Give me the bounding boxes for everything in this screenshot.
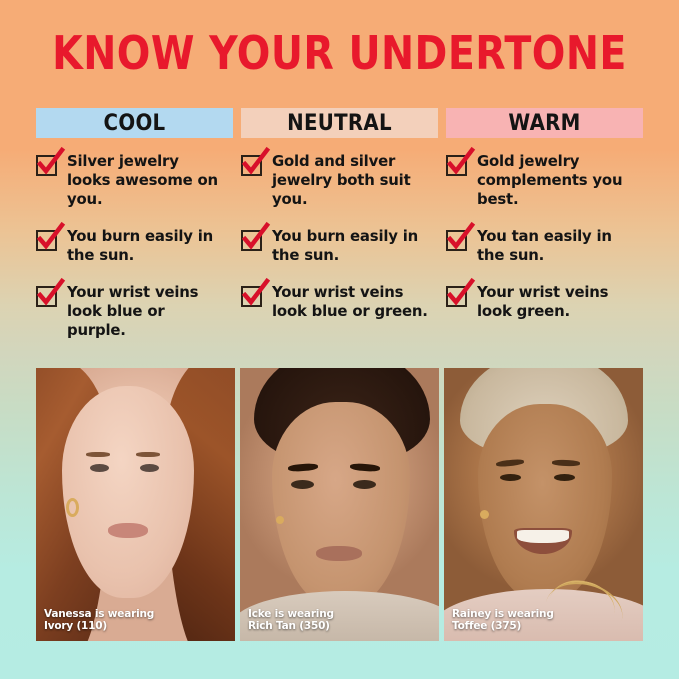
column-neutral: NEUTRAL Gold and silver jewelry both sui… — [241, 108, 438, 358]
eye-left — [90, 464, 109, 472]
face — [478, 404, 612, 602]
checkbox-checked-icon[interactable] — [241, 230, 262, 251]
checkbox-checked-icon[interactable] — [241, 286, 262, 307]
column-cool: COOL Silver jewelry looks awesome on you… — [36, 108, 233, 358]
checkbox-checked-icon[interactable] — [446, 230, 467, 251]
checklist-neutral: Gold and silver jewelry both suit you. Y… — [241, 152, 438, 321]
column-header-cool-bar: COOL — [36, 108, 233, 138]
eye-left — [291, 480, 314, 489]
column-header-warm-bar: WARM — [446, 108, 643, 138]
checkbox-checked-icon[interactable] — [36, 155, 57, 176]
checklist-item[interactable]: You burn easily in the sun. — [36, 227, 233, 265]
checklist-item-label: Your wrist veins look green. — [477, 283, 636, 321]
face — [272, 402, 410, 608]
checklist-item[interactable]: Gold and silver jewelry both suit you. — [241, 152, 438, 209]
column-warm: WARM Gold jewelry complements you best. … — [446, 108, 643, 358]
checkbox-checked-icon[interactable] — [241, 155, 262, 176]
model-photo-vanessa: Vanessa is wearingIvory (110) — [36, 368, 235, 641]
eye-right — [353, 480, 376, 489]
photo-caption: Rainey is wearingToffee (375) — [452, 608, 554, 632]
checkbox-checked-icon[interactable] — [36, 286, 57, 307]
earring-icon — [276, 516, 284, 524]
eyebrow-right — [136, 452, 160, 457]
column-header-neutral: NEUTRAL — [251, 108, 428, 138]
page-title: KNOW YOUR UNDERTONE — [48, 28, 632, 78]
earring-icon — [480, 510, 489, 519]
photo-caption: Icke is wearingRich Tan (350) — [248, 608, 334, 632]
checkbox-checked-icon[interactable] — [36, 230, 57, 251]
checklist-item[interactable]: Your wrist veins look blue or green. — [241, 283, 438, 321]
checklist-item-label: You burn easily in the sun. — [272, 227, 431, 265]
checklist-item[interactable]: You burn easily in the sun. — [241, 227, 438, 265]
photo-caption: Vanessa is wearingIvory (110) — [44, 608, 154, 632]
checklist-item[interactable]: Your wrist veins look green. — [446, 283, 643, 321]
lips — [316, 546, 362, 561]
eye-left — [500, 474, 521, 481]
undertone-infographic: KNOW YOUR UNDERTONE COOL Silver jewelry … — [0, 0, 679, 679]
eyebrow-left — [86, 452, 110, 457]
column-header-cool: COOL — [46, 108, 223, 138]
checklist-item-label: Your wrist veins look blue or purple. — [67, 283, 226, 340]
model-photo-row: Vanessa is wearingIvory (110) Icke is we… — [36, 368, 643, 641]
model-photo-rainey: Rainey is wearingToffee (375) — [444, 368, 643, 641]
checklist-item-label: Gold jewelry complements you best. — [477, 152, 636, 209]
checklist-item[interactable]: Silver jewelry looks awesome on you. — [36, 152, 233, 209]
checklist-item[interactable]: Gold jewelry complements you best. — [446, 152, 643, 209]
earring-icon — [66, 498, 79, 517]
checklist-item[interactable]: You tan easily in the sun. — [446, 227, 643, 265]
column-header-warm: WARM — [456, 108, 633, 138]
checklist-item-label: You burn easily in the sun. — [67, 227, 226, 265]
column-header-neutral-bar: NEUTRAL — [241, 108, 438, 138]
teeth — [517, 530, 569, 543]
checklist-warm: Gold jewelry complements you best. You t… — [446, 152, 643, 321]
checklist-item-label: Gold and silver jewelry both suit you. — [272, 152, 431, 209]
model-photo-icke: Icke is wearingRich Tan (350) — [240, 368, 439, 641]
checklist-item-label: You tan easily in the sun. — [477, 227, 636, 265]
lips — [108, 523, 148, 538]
checklist-cool: Silver jewelry looks awesome on you. You… — [36, 152, 233, 340]
checkbox-checked-icon[interactable] — [446, 286, 467, 307]
checklist-item-label: Your wrist veins look blue or green. — [272, 283, 431, 321]
checklist-item[interactable]: Your wrist veins look blue or purple. — [36, 283, 233, 340]
checkbox-checked-icon[interactable] — [446, 155, 467, 176]
eye-right — [140, 464, 159, 472]
checklist-item-label: Silver jewelry looks awesome on you. — [67, 152, 226, 209]
undertone-columns: COOL Silver jewelry looks awesome on you… — [36, 108, 643, 358]
eye-right — [554, 474, 575, 481]
